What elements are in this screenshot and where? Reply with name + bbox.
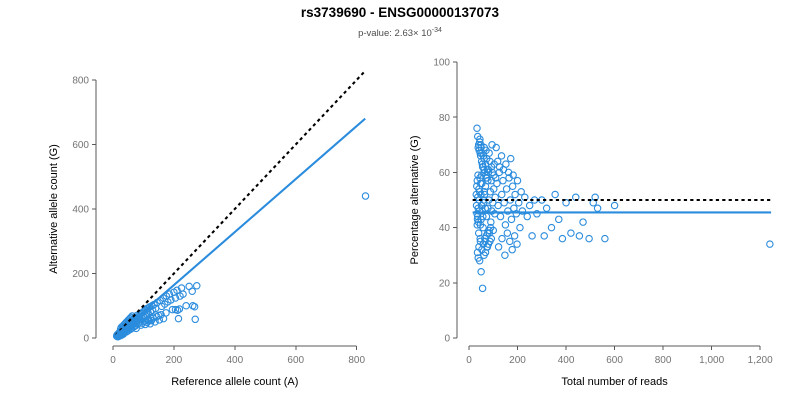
y-axis-title: Percentage alternative (G): [409, 135, 421, 264]
page-title: rs3739690 - ENSG00000137073: [301, 5, 500, 20]
x-tick-label: 200: [166, 355, 183, 366]
x-axis-title: Reference allele count (A): [171, 376, 298, 388]
y-tick-label: 200: [72, 269, 89, 280]
y-tick-label: 800: [72, 76, 89, 87]
y-tick-label: 60: [439, 168, 451, 179]
x-tick-label: 0: [466, 355, 472, 366]
x-tick-label: 400: [226, 355, 243, 366]
x-tick-label: 200: [509, 355, 526, 366]
y-tick-label: 400: [72, 205, 89, 216]
y-tick-label: 100: [433, 58, 450, 69]
x-tick-label: 800: [348, 355, 365, 366]
x-tick-label: 1,200: [748, 355, 773, 366]
y-tick-label: 0: [444, 334, 450, 345]
y-tick-label: 80: [439, 113, 451, 124]
x-tick-label: 600: [606, 355, 623, 366]
x-axis-title: Total number of reads: [561, 376, 668, 388]
subtitle-pvalue: p-value: 2.63× 10-34: [358, 27, 442, 39]
figure-root: rs3739690 - ENSG00000137073 p-value: 2.6…: [0, 0, 800, 400]
y-tick-label: 40: [439, 223, 451, 234]
y-tick-label: 0: [83, 334, 89, 345]
x-tick-label: 1,000: [699, 355, 724, 366]
subtitle-exponent: -34: [432, 27, 442, 34]
x-tick-label: 600: [287, 355, 304, 366]
y-tick-label: 600: [72, 140, 89, 151]
y-axis-title: Alternative allele count (G): [48, 144, 60, 274]
x-tick-label: 0: [110, 355, 116, 366]
subtitle-prefix: p-value: 2.63× 10: [358, 28, 432, 39]
x-tick-label: 400: [558, 355, 575, 366]
y-tick-label: 20: [439, 278, 451, 289]
x-tick-label: 800: [655, 355, 672, 366]
